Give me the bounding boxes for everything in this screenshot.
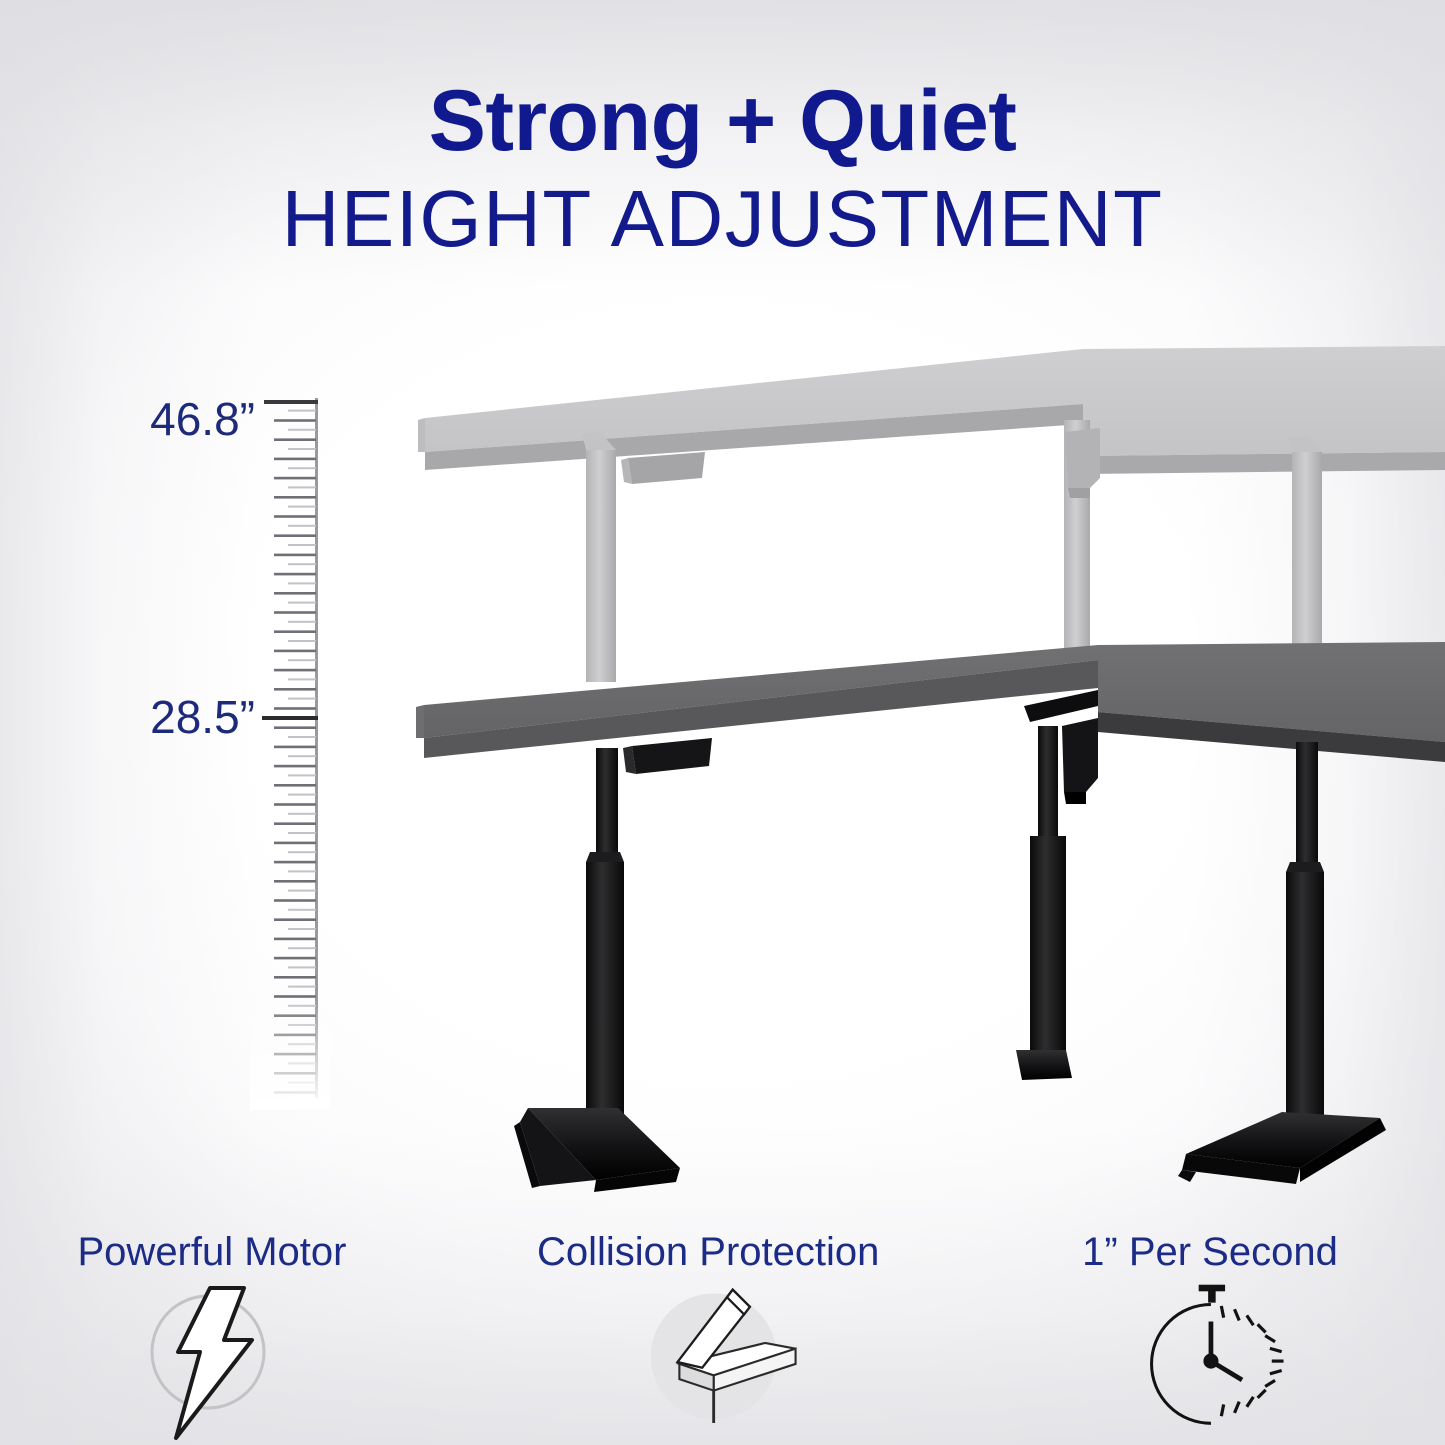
ruler-tick-max [264,400,318,404]
desk-collision-icon [607,1280,807,1445]
lowered-desk [416,642,1445,1192]
raised-desk [418,346,1445,682]
height-ruler [250,398,330,1110]
feature-label-speed: 1” Per Second [1040,1230,1380,1275]
feature-label-motor: Powerful Motor [42,1230,382,1275]
clock-timer-icon [1110,1280,1310,1445]
infographic-page: Strong + Quiet HEIGHT ADJUSTMENT [0,0,1445,1445]
lightning-bolt-icon [112,1280,312,1445]
ruler-tick-min [262,716,318,720]
standing-desk-illustration [0,0,1445,1445]
feature-label-collision: Collision Protection [537,1230,877,1275]
